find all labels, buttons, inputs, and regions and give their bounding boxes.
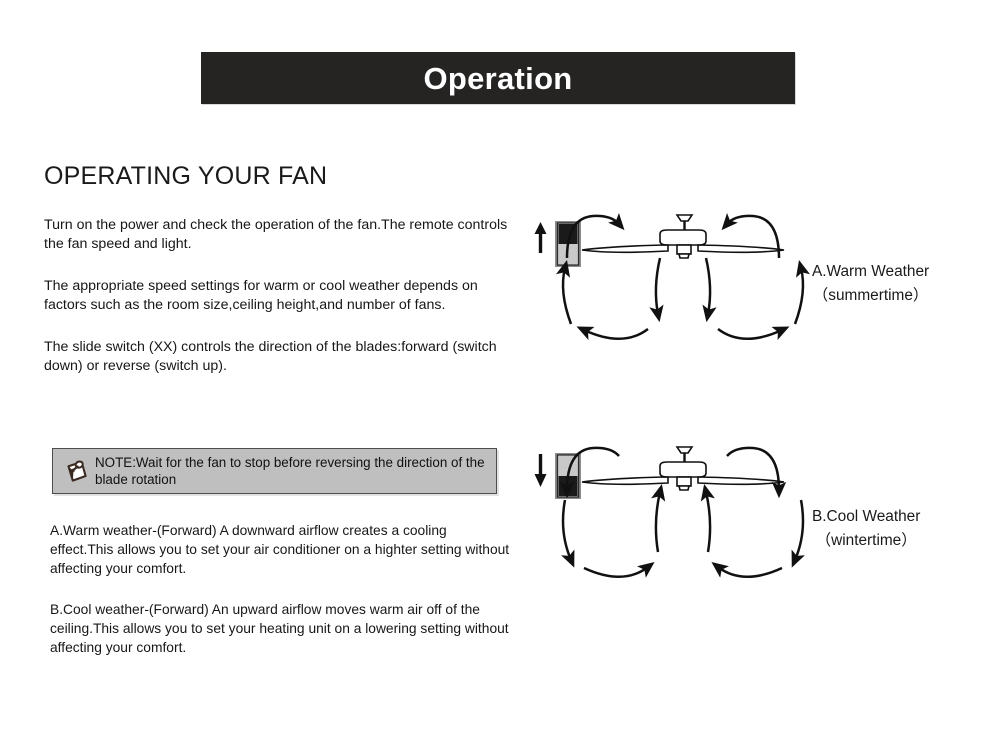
ceiling-fan-icon	[582, 215, 784, 258]
note-text: NOTE:Wait for the fan to stop before rev…	[95, 454, 496, 489]
cool-weather-caption-line-2: （wintertime）	[812, 529, 920, 553]
cool-weather-caption: B.Cool Weather （wintertime）	[812, 505, 920, 553]
cool-weather-caption-line-1: B.Cool Weather	[812, 508, 920, 525]
warm-weather-caption: A.Warm Weather （summertime）	[812, 260, 929, 308]
warm-weather-caption-line-2: （summertime）	[812, 284, 929, 308]
operating-instructions-section: OPERATING YOUR FAN Turn on the power and…	[44, 163, 514, 376]
instruction-paragraph-3: The slide switch (XX) controls the direc…	[44, 338, 514, 376]
instruction-paragraph-1: Turn on the power and check the operatio…	[44, 216, 514, 254]
note-pin-icon	[53, 458, 95, 485]
note-callout-box: NOTE:Wait for the fan to stop before rev…	[52, 448, 497, 494]
instruction-paragraph-2: The appropriate speed settings for warm …	[44, 277, 514, 315]
cool-weather-detail: B.Cool weather-(Forward) An upward airfl…	[50, 601, 510, 657]
cool-weather-diagram	[527, 428, 817, 608]
warm-weather-diagram	[527, 196, 817, 366]
ceiling-fan-icon	[582, 447, 784, 490]
weather-details-section: A.Warm weather-(Forward) A downward airf…	[50, 522, 510, 658]
warm-weather-caption-line-1: A.Warm Weather	[812, 263, 929, 280]
warm-weather-detail: A.Warm weather-(Forward) A downward airf…	[50, 522, 510, 578]
page-title: Operation	[423, 63, 572, 94]
section-heading: OPERATING YOUR FAN	[44, 163, 514, 191]
page-title-banner: Operation	[201, 52, 795, 104]
